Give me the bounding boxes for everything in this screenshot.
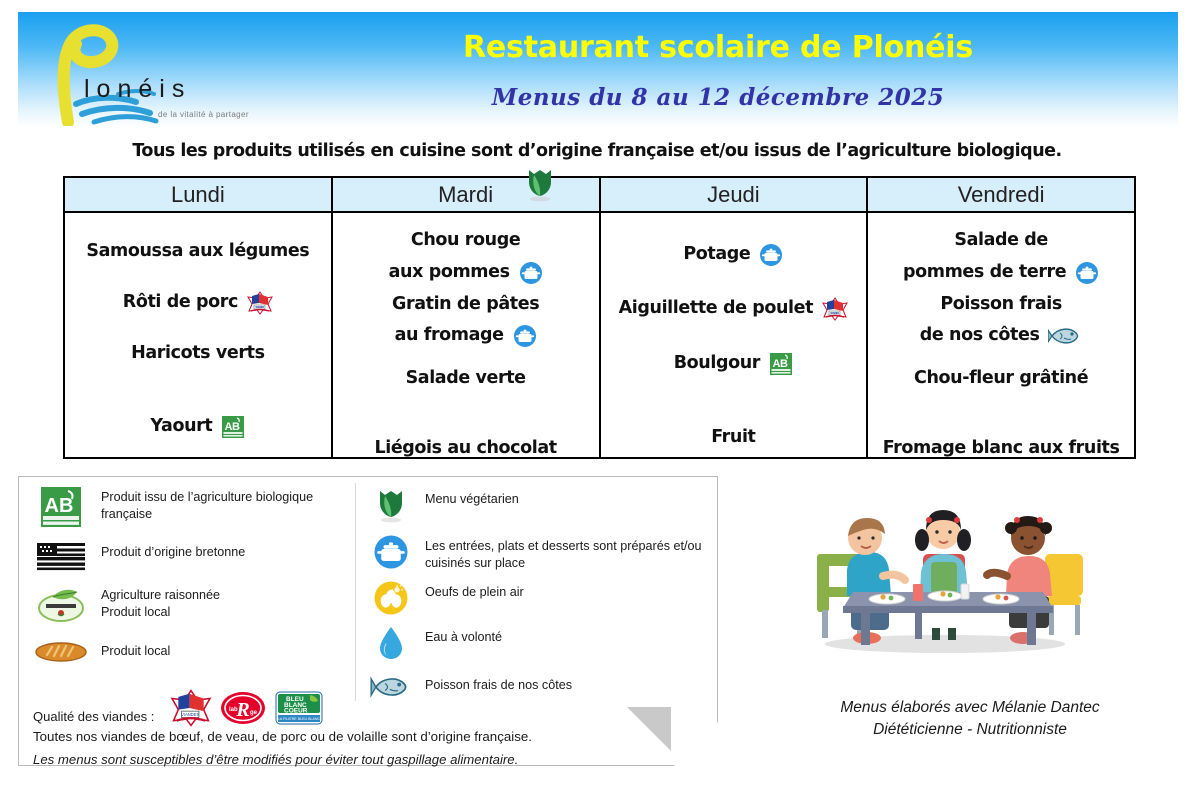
svg-text:lab: lab	[229, 707, 238, 713]
legend-item-cooked-onsite: Les entrées, plats et desserts sont prép…	[369, 534, 714, 571]
day-header-jeudi: Jeudi	[601, 178, 867, 213]
menu-item: Poisson frais	[868, 296, 1134, 314]
viande-de-france-icon: VIANDES	[822, 297, 848, 321]
ploneis-logo: lonéis de la vitalité à partager	[32, 18, 282, 126]
menu-item: Salade verte	[333, 370, 599, 388]
bread-icon	[33, 639, 89, 665]
svg-text:VIANDES: VIANDES	[182, 712, 200, 717]
menu-item-text: Fruit	[711, 429, 755, 447]
day-label: Vendredi	[958, 182, 1045, 208]
menu-item: Fromage blanc aux fruits	[868, 440, 1134, 458]
menu-items-mardi: Chou rouge aux pommes Gratin de pâtes	[333, 213, 599, 457]
viandes-de-france-logo: VIANDES	[170, 689, 212, 727]
credit-line-2: Diététicienne - Nutritionniste	[760, 719, 1180, 741]
origin-note: Tous les produits utilisés en cuisine so…	[0, 141, 1194, 161]
pot-cooked-onsite-icon	[759, 243, 783, 267]
menu-item-text: Poisson frais	[940, 296, 1062, 314]
ab-bio-icon: AB	[33, 485, 89, 531]
menu-item-text: Chou rouge	[411, 232, 520, 250]
legend-item-label: Poisson frais de nos côtes	[425, 673, 572, 694]
menu-column-jeudi: Jeudi Potage Aiguille	[601, 178, 869, 457]
menu-item-text: de nos côtes	[920, 327, 1040, 345]
legend-column-right: Menu végétarien Les entrées, plats et de…	[369, 487, 714, 710]
credit-line-1: Menus élaborés avec Mélanie Dantec	[760, 697, 1180, 719]
menu-item: Potage	[601, 243, 867, 267]
menu-item-text: Salade verte	[406, 370, 526, 388]
legend-column-left: AB Produit issu de l’agriculture biologi…	[33, 485, 353, 674]
menu-item: de nos côtes	[868, 324, 1134, 348]
day-label: Mardi	[438, 182, 493, 208]
dietitian-credit: Menus élaborés avec Mélanie Dantec Diété…	[760, 697, 1180, 742]
legend-item-label: Les entrées, plats et desserts sont prép…	[425, 534, 714, 571]
menu-item: Yaourt AB	[65, 414, 331, 440]
pot-cooked-onsite-icon	[519, 261, 543, 285]
legend-item-label: Menu végétarien	[425, 487, 519, 508]
water-drop-icon	[369, 625, 413, 661]
menu-item: Boulgour AB	[601, 351, 867, 377]
vegetarian-leaf-icon	[523, 166, 557, 204]
legend-item-water: Eau à volonté	[369, 625, 714, 661]
menu-items-vendredi: Salade de pommes de terre Poisson frais	[868, 213, 1134, 457]
day-header-lundi: Lundi	[65, 178, 331, 213]
menu-disclaimer: Les menus sont susceptibles d’être modif…	[33, 752, 703, 767]
free-range-eggs-icon	[369, 580, 413, 616]
legend-item-vegetarian: Menu végétarien	[369, 487, 714, 525]
menu-column-lundi: Lundi Samoussa aux légumes Rôti de porc …	[65, 178, 333, 457]
ab-bio-icon: AB	[769, 351, 793, 377]
menu-item-text: Salade de	[954, 232, 1048, 250]
menu-item: Gratin de pâtes	[333, 296, 599, 314]
menu-item: Liégois au chocolat	[333, 440, 599, 458]
day-label: Lundi	[171, 182, 225, 208]
menu-item: pommes de terre	[868, 261, 1134, 285]
menu-item-text: aux pommes	[389, 264, 510, 282]
menu-item-text: au fromage	[395, 327, 504, 345]
menu-item-text: Yaourt	[150, 418, 212, 436]
menu-item-text: Rôti de porc	[123, 294, 238, 312]
meat-origin-text: Toutes nos viandes de bœuf, de veau, de …	[33, 729, 703, 744]
menu-item: Aiguillette de poulet VIANDES	[601, 297, 867, 321]
legend-item-agriculture-raisonnee: Agriculture raisonnée Produit local	[33, 583, 353, 625]
fish-icon	[369, 673, 413, 701]
meat-quality-label: Qualité des viandes :	[33, 709, 154, 724]
menu-items-jeudi: Potage Aiguillette de poulet	[601, 213, 867, 457]
svg-text:AB: AB	[772, 358, 788, 370]
menu-item: Haricots verts	[65, 345, 331, 363]
menu-item: aux pommes	[333, 261, 599, 285]
page-fold-corner	[627, 707, 671, 751]
legend-item-label: Produit local	[101, 639, 170, 660]
legend-item-bio: AB Produit issu de l’agriculture biologi…	[33, 485, 353, 531]
logo-wordmark: lonéis	[84, 75, 191, 104]
menu-item: Chou rouge	[333, 232, 599, 250]
menu-item-text: Haricots verts	[131, 345, 264, 363]
child-girl-right	[987, 516, 1052, 644]
breton-flag-icon	[33, 540, 89, 574]
menu-item: Fruit	[601, 429, 867, 447]
viande-de-france-icon: VIANDES	[247, 291, 273, 315]
day-header-vendredi: Vendredi	[868, 178, 1134, 213]
svg-text:VIANDES: VIANDES	[255, 305, 264, 309]
svg-text:AB: AB	[225, 421, 241, 433]
child-boy	[847, 518, 905, 644]
menu-item-text: pommes de terre	[903, 264, 1066, 282]
pot-cooked-onsite-icon	[369, 534, 413, 570]
legend-item-label: Produit issu de l’agriculture biologique…	[101, 485, 353, 522]
legend-item-label: Eau à volonté	[425, 625, 502, 646]
menu-item: Chou-fleur grâtiné	[868, 370, 1134, 388]
legend-item-fish: Poisson frais de nos côtes	[369, 673, 714, 701]
legend-item-bread: Produit local	[33, 639, 353, 665]
menu-item: au fromage	[333, 324, 599, 348]
svg-text:AB: AB	[45, 495, 74, 517]
ab-bio-icon: AB	[221, 414, 245, 440]
children-eating-illustration	[795, 492, 1095, 657]
meat-quality-block: Qualité des viandes : VIANDES	[33, 705, 703, 767]
header-banner: lonéis de la vitalité à partager Restaur…	[18, 12, 1178, 127]
agriculture-raisonnee-icon	[33, 583, 89, 625]
vegetarian-leaf-icon	[369, 487, 413, 525]
menu-date-range: Menus du 8 au 12 décembre 2025	[268, 84, 1168, 111]
bleu-blanc-coeur-logo: BLEU BLANC COEUR LA FILIERE BLEU BLANC	[274, 689, 324, 727]
menu-item-text: Potage	[683, 246, 750, 264]
menu-column-vendredi: Vendredi Salade de pommes de terre	[868, 178, 1134, 457]
legend-divider	[355, 483, 356, 701]
menu-item: Rôti de porc VIANDES	[65, 291, 331, 315]
svg-text:ge: ge	[250, 710, 258, 716]
menu-item-text: Boulgour	[674, 355, 760, 373]
menu-items-lundi: Samoussa aux légumes Rôti de porc VIANDE…	[65, 213, 331, 457]
legend-panel: AB Produit issu de l’agriculture biologi…	[18, 476, 718, 766]
menu-item: Samoussa aux légumes	[65, 243, 331, 261]
day-label: Jeudi	[707, 182, 760, 208]
quality-logos: VIANDES R lab ge	[170, 689, 324, 727]
weekly-menu-table: Lundi Samoussa aux légumes Rôti de porc …	[63, 176, 1136, 459]
menu-column-mardi: Mardi Chou rouge aux pommes	[333, 178, 601, 457]
fish-icon	[1048, 324, 1082, 348]
menu-item-text: Gratin de pâtes	[392, 296, 539, 314]
page-title: Restaurant scolaire de Plonéis	[268, 30, 1168, 65]
svg-text:LA FILIERE BLEU BLANC: LA FILIERE BLEU BLANC	[278, 717, 321, 721]
svg-text:VIANDES: VIANDES	[830, 311, 839, 315]
menu-item-text: Fromage blanc aux fruits	[883, 440, 1120, 458]
menu-item: Salade de	[868, 232, 1134, 250]
legend-item-free-range-eggs: Oeufs de plein air	[369, 580, 714, 616]
svg-text:COEUR: COEUR	[284, 708, 308, 715]
menu-item-text: Liégois au chocolat	[374, 440, 556, 458]
logo-tagline: de la vitalité à partager	[158, 110, 249, 119]
pot-cooked-onsite-icon	[513, 324, 537, 348]
menu-item-text: Samoussa aux légumes	[86, 243, 309, 261]
child-girl-center	[915, 510, 971, 640]
label-rouge-logo: R lab ge	[220, 689, 266, 727]
legend-item-breton: Produit d’origine bretonne	[33, 540, 353, 574]
legend-item-label: Oeufs de plein air	[425, 580, 524, 601]
legend-item-label: Produit d’origine bretonne	[101, 540, 245, 561]
legend-item-label: Agriculture raisonnée Produit local	[101, 583, 220, 620]
menu-item-text: Chou-fleur grâtiné	[914, 370, 1088, 388]
pot-cooked-onsite-icon	[1075, 261, 1099, 285]
day-header-mardi: Mardi	[333, 178, 599, 213]
menu-item-text: Aiguillette de poulet	[619, 300, 813, 318]
